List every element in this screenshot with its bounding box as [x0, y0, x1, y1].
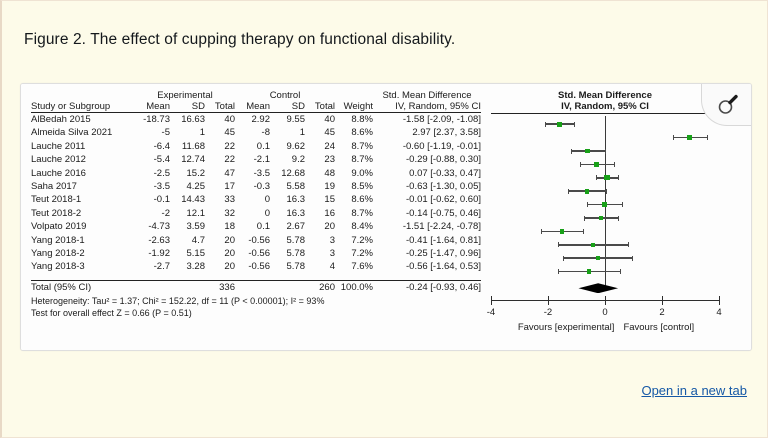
col-smd-ci: IV, Random, 95% CI — [373, 101, 481, 113]
row-study: Yang 2018-2 — [31, 247, 135, 260]
row-exp-sd: 5.15 — [170, 247, 205, 260]
table-row: Saha 2017-3.54.2517-0.35.58198.5%-0.63 [… — [31, 180, 481, 193]
ci-tick-lower — [673, 135, 674, 140]
col-exp-mean: Mean — [135, 101, 170, 113]
row-study: Teut 2018-2 — [31, 207, 135, 220]
row-exp-total: 32 — [205, 207, 235, 220]
ci-tick-upper — [632, 256, 633, 261]
column-header-row: Study or Subgroup Mean SD Total Mean SD … — [31, 101, 481, 113]
row-ctl-mean: -8 — [235, 126, 270, 139]
row-ci: -0.01 [-0.62, 0.60] — [373, 193, 481, 206]
favours-experimental: Favours [experimental] — [518, 322, 615, 333]
figure-image-frame[interactable]: Experimental Control Std. Mean Differenc… — [20, 83, 752, 351]
ci-tick-upper — [620, 269, 621, 274]
row-exp-sd: 12.74 — [170, 153, 205, 166]
row-exp-mean: -3.5 — [135, 180, 170, 193]
row-ctl-total: 40 — [305, 113, 335, 127]
row-ci: -1.58 [-2.09, -1.08] — [373, 113, 481, 127]
magnifying-glass-icon — [717, 94, 739, 116]
row-study: Yang 2018-3 — [31, 260, 135, 273]
col-ctl-mean: Mean — [235, 101, 270, 113]
col-exp-sd: SD — [170, 101, 205, 113]
axis-tick-label: -2 — [544, 307, 552, 318]
row-ctl-total: 15 — [305, 193, 335, 206]
row-ctl-mean: 0.1 — [235, 220, 270, 233]
row-study: Teut 2018-1 — [31, 193, 135, 206]
total-blank1 — [135, 281, 170, 295]
total-ctl-total: 260 — [305, 281, 335, 295]
ci-tick-lower — [584, 216, 585, 221]
row-weight: 7.2% — [335, 234, 373, 247]
group-header-row: Experimental Control Std. Mean Differenc… — [31, 90, 481, 101]
ci-tick-lower — [587, 202, 588, 207]
row-ci: 0.07 [-0.33, 0.47] — [373, 167, 481, 180]
row-exp-mean: -1.92 — [135, 247, 170, 260]
row-ctl-sd: 5.78 — [270, 260, 305, 273]
row-ctl-sd: 2.67 — [270, 220, 305, 233]
row-ctl-total: 16 — [305, 207, 335, 220]
row-ctl-mean: 0 — [235, 207, 270, 220]
table-row: Volpato 2019-4.733.59180.12.67208.4%-1.5… — [31, 220, 481, 233]
row-study: Lauche 2012 — [31, 153, 135, 166]
row-exp-sd: 15.2 — [170, 167, 205, 180]
row-ctl-sd: 1 — [270, 126, 305, 139]
effect-marker — [594, 162, 599, 167]
total-ci: -0.24 [-0.93, 0.46] — [373, 281, 481, 295]
effect-marker — [687, 135, 692, 140]
ci-tick-upper — [605, 149, 606, 154]
plot-axis: Favours [experimental]Favours [control] … — [491, 300, 719, 340]
group-header-blank — [31, 90, 135, 101]
effect-marker — [596, 256, 600, 260]
row-weight: 8.8% — [335, 113, 373, 127]
favours-labels: Favours [experimental]Favours [control] — [481, 322, 731, 333]
row-study: Lauche 2011 — [31, 140, 135, 153]
row-exp-total: 22 — [205, 140, 235, 153]
row-exp-mean: -18.73 — [135, 113, 170, 127]
row-ctl-mean: 0 — [235, 193, 270, 206]
row-ctl-sd: 16.3 — [270, 193, 305, 206]
total-row: Total (95% CI) 336 260 100.0% -0.24 [-0.… — [31, 281, 481, 295]
row-ctl-sd: 9.55 — [270, 113, 305, 127]
row-weight: 7.2% — [335, 247, 373, 260]
row-exp-mean: -5 — [135, 126, 170, 139]
effect-marker — [585, 189, 590, 194]
row-exp-mean: -6.4 — [135, 140, 170, 153]
row-exp-total: 22 — [205, 153, 235, 166]
table-row: AlBedah 2015-18.7316.63402.929.55408.8%-… — [31, 113, 481, 127]
row-study: Yang 2018-1 — [31, 234, 135, 247]
ci-tick-lower — [596, 175, 597, 180]
row-exp-total: 45 — [205, 126, 235, 139]
row-ctl-mean: -0.56 — [235, 247, 270, 260]
axis-tick-label: -4 — [487, 307, 495, 318]
col-ctl-sd: SD — [270, 101, 305, 113]
row-ctl-mean: -3.5 — [235, 167, 270, 180]
axis-tick — [605, 296, 606, 305]
row-exp-sd: 4.7 — [170, 234, 205, 247]
heterogeneity-text: Heterogeneity: Tau² = 1.37; Chi² = 152.2… — [31, 295, 481, 308]
row-ctl-total: 48 — [305, 167, 335, 180]
plot-area — [491, 116, 719, 291]
axis-tick-label: 0 — [602, 307, 607, 318]
effect-marker — [560, 229, 565, 234]
row-exp-sd: 16.63 — [170, 113, 205, 127]
effect-marker — [602, 202, 607, 207]
table-row: Yang 2018-2-1.925.1520-0.565.7837.2%-0.2… — [31, 247, 481, 260]
table-row: Yang 2018-1-2.634.720-0.565.7837.2%-0.41… — [31, 234, 481, 247]
axis-tick-label: 2 — [659, 307, 664, 318]
row-ctl-mean: -0.3 — [235, 180, 270, 193]
row-ci: -0.41 [-1.64, 0.81] — [373, 234, 481, 247]
col-weight: Weight — [335, 101, 373, 113]
col-study: Study or Subgroup — [31, 101, 135, 113]
row-ctl-total: 23 — [305, 153, 335, 166]
group-header-control: Control — [235, 90, 335, 101]
row-exp-mean: -2.7 — [135, 260, 170, 273]
row-weight: 8.6% — [335, 126, 373, 139]
row-exp-sd: 12.1 — [170, 207, 205, 220]
row-ctl-sd: 9.62 — [270, 140, 305, 153]
row-ctl-sd: 9.2 — [270, 153, 305, 166]
row-weight: 8.4% — [335, 220, 373, 233]
table-row: Lauche 2012-5.412.7422-2.19.2238.7%-0.29… — [31, 153, 481, 166]
ci-tick-lower — [571, 149, 572, 154]
table-row: Lauche 2016-2.515.247-3.512.68489.0%0.07… — [31, 167, 481, 180]
axis-tick — [491, 296, 492, 305]
row-ctl-sd: 12.68 — [270, 167, 305, 180]
total-blank2 — [170, 281, 205, 295]
row-ci: -0.63 [-1.30, 0.05] — [373, 180, 481, 193]
ci-tick-lower — [568, 189, 569, 194]
ci-tick-upper — [614, 162, 615, 167]
figure-inner: Experimental Control Std. Mean Differenc… — [21, 84, 752, 351]
row-ci: -0.60 [-1.19, -0.01] — [373, 140, 481, 153]
row-ctl-total: 45 — [305, 126, 335, 139]
ci-tick-upper — [574, 122, 575, 127]
row-ctl-mean: 0.1 — [235, 140, 270, 153]
row-study: Volpato 2019 — [31, 220, 135, 233]
table-row: Lauche 2011-6.411.68220.19.62248.7%-0.60… — [31, 140, 481, 153]
overall-effect-text: Test for overall effect Z = 0.66 (P = 0.… — [31, 307, 481, 320]
group-header-blank2 — [335, 90, 373, 101]
ci-tick-lower — [563, 256, 564, 261]
ci-tick-lower — [541, 229, 542, 234]
row-exp-sd: 1 — [170, 126, 205, 139]
ci-tick-upper — [618, 216, 619, 221]
row-weight: 8.5% — [335, 180, 373, 193]
ci-tick-lower — [558, 242, 559, 247]
table-row: Teut 2018-2-212.132016.3168.7%-0.14 [-0.… — [31, 207, 481, 220]
row-exp-total: 17 — [205, 180, 235, 193]
table-row: Teut 2018-1-0.114.4333016.3158.6%-0.01 [… — [31, 193, 481, 206]
row-ci: -1.51 [-2.24, -0.78] — [373, 220, 481, 233]
row-exp-sd: 14.43 — [170, 193, 205, 206]
row-exp-sd: 4.25 — [170, 180, 205, 193]
row-study: Almeida Silva 2021 — [31, 126, 135, 139]
row-exp-total: 18 — [205, 220, 235, 233]
col-exp-total: Total — [205, 101, 235, 113]
open-in-new-tab-link[interactable]: Open in a new tab — [641, 383, 747, 398]
row-exp-total: 33 — [205, 193, 235, 206]
row-exp-total: 20 — [205, 234, 235, 247]
forest-plot-table: Experimental Control Std. Mean Differenc… — [31, 90, 481, 320]
ci-tick-lower — [580, 162, 581, 167]
row-ctl-mean: -0.56 — [235, 260, 270, 273]
row-ctl-total: 3 — [305, 234, 335, 247]
plot-header: Std. Mean Difference IV, Random, 95% CI — [491, 90, 719, 114]
page-container: Figure 2. The effect of cupping therapy … — [0, 0, 768, 438]
axis-tick — [548, 296, 549, 305]
row-ctl-total: 24 — [305, 140, 335, 153]
row-ctl-total: 19 — [305, 180, 335, 193]
row-ctl-sd: 5.78 — [270, 234, 305, 247]
effect-marker — [587, 269, 591, 273]
total-exp-total: 336 — [205, 281, 235, 295]
row-exp-mean: -4.73 — [135, 220, 170, 233]
total-label: Total (95% CI) — [31, 281, 135, 295]
ci-tick-upper — [618, 175, 619, 180]
effect-marker — [591, 243, 595, 247]
pooled-effect-diamond — [578, 283, 618, 293]
effect-marker — [585, 149, 590, 154]
axis-tick-label: 4 — [716, 307, 721, 318]
row-study: AlBedah 2015 — [31, 113, 135, 127]
row-ctl-mean: -0.56 — [235, 234, 270, 247]
ci-tick-upper — [707, 135, 708, 140]
forest-plot-graph: Std. Mean Difference IV, Random, 95% CI … — [491, 90, 741, 345]
row-ctl-total: 20 — [305, 220, 335, 233]
row-study: Saha 2017 — [31, 180, 135, 193]
row-exp-mean: -2 — [135, 207, 170, 220]
total-blank3 — [235, 281, 270, 295]
study-rows: AlBedah 2015-18.7316.63402.929.55408.8%-… — [31, 113, 481, 274]
row-exp-total: 20 — [205, 247, 235, 260]
row-exp-total: 47 — [205, 167, 235, 180]
row-ctl-sd: 5.78 — [270, 247, 305, 260]
ci-tick-upper — [628, 242, 629, 247]
plot-title: Std. Mean Difference — [491, 90, 719, 101]
total-blank4 — [270, 281, 305, 295]
ci-tick-upper — [583, 229, 584, 234]
row-ci: -0.14 [-0.75, 0.46] — [373, 207, 481, 220]
effect-marker — [604, 175, 609, 180]
ci-tick-lower — [558, 269, 559, 274]
row-exp-sd: 3.28 — [170, 260, 205, 273]
row-weight: 8.7% — [335, 153, 373, 166]
favours-control: Favours [control] — [623, 322, 694, 333]
row-weight: 8.6% — [335, 193, 373, 206]
row-weight: 9.0% — [335, 167, 373, 180]
row-weight: 8.7% — [335, 140, 373, 153]
row-weight: 7.6% — [335, 260, 373, 273]
row-exp-mean: -2.5 — [135, 167, 170, 180]
row-ci: 2.97 [2.37, 3.58] — [373, 126, 481, 139]
figure-caption: Figure 2. The effect of cupping therapy … — [24, 31, 455, 49]
group-header-smd: Std. Mean Difference — [373, 90, 481, 101]
plot-subtitle: IV, Random, 95% CI — [491, 101, 719, 114]
row-weight: 8.7% — [335, 207, 373, 220]
row-study: Lauche 2016 — [31, 167, 135, 180]
row-ctl-mean: 2.92 — [235, 113, 270, 127]
table-row: Yang 2018-3-2.73.2820-0.565.7847.6%-0.56… — [31, 260, 481, 273]
axis-tick — [662, 296, 663, 305]
row-exp-mean: -5.4 — [135, 153, 170, 166]
effect-marker — [599, 216, 604, 221]
row-ctl-mean: -2.1 — [235, 153, 270, 166]
row-exp-mean: -0.1 — [135, 193, 170, 206]
total-weight: 100.0% — [335, 281, 373, 295]
ci-tick-upper — [606, 189, 607, 194]
study-table: Experimental Control Std. Mean Differenc… — [31, 90, 481, 295]
ci-tick-lower — [545, 122, 546, 127]
col-ctl-total: Total — [305, 101, 335, 113]
row-ctl-total: 4 — [305, 260, 335, 273]
row-exp-sd: 3.59 — [170, 220, 205, 233]
row-exp-sd: 11.68 — [170, 140, 205, 153]
row-exp-total: 40 — [205, 113, 235, 127]
row-ci: -0.56 [-1.64, 0.53] — [373, 260, 481, 273]
effect-marker — [557, 122, 562, 127]
row-ctl-total: 3 — [305, 247, 335, 260]
table-spacer — [31, 274, 481, 281]
axis-tick — [719, 296, 720, 305]
table-row: Almeida Silva 2021-5145-81458.6%2.97 [2.… — [31, 126, 481, 139]
row-exp-mean: -2.63 — [135, 234, 170, 247]
row-ci: -0.25 [-1.47, 0.96] — [373, 247, 481, 260]
row-ci: -0.29 [-0.88, 0.30] — [373, 153, 481, 166]
row-ctl-sd: 16.3 — [270, 207, 305, 220]
row-exp-total: 20 — [205, 260, 235, 273]
ci-tick-upper — [622, 202, 623, 207]
row-ctl-sd: 5.58 — [270, 180, 305, 193]
group-header-experimental: Experimental — [135, 90, 235, 101]
